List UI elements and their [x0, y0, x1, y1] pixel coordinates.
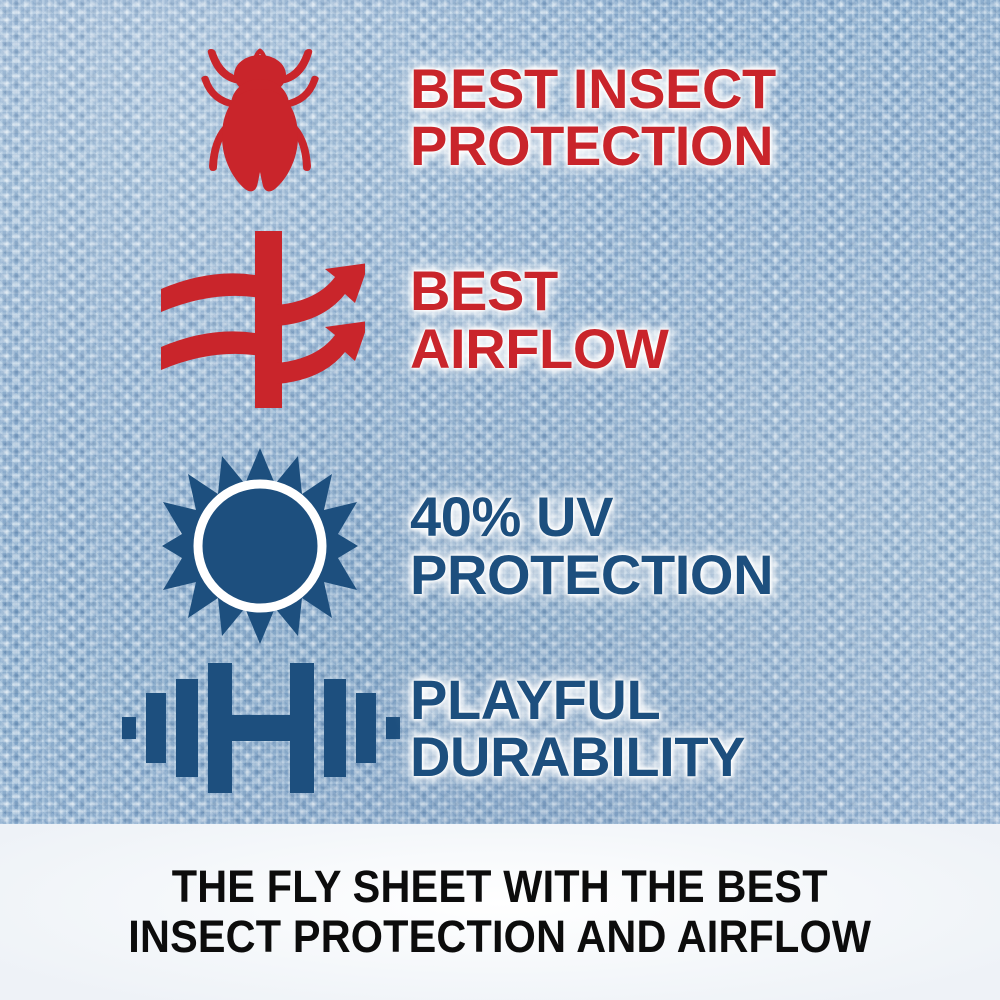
feature-row-uv-protection: 40% UV PROTECTION — [110, 438, 1000, 653]
feature-row-airflow: BEST AIRFLOW — [110, 222, 1000, 417]
feature-icon-cell — [110, 653, 410, 803]
feature-text-cell: 40% UV PROTECTION — [410, 488, 1000, 602]
feature-label-airflow: BEST AIRFLOW — [410, 262, 1000, 376]
sun-icon — [160, 446, 360, 646]
feature-text-cell: BEST INSECT PROTECTION — [410, 60, 1000, 174]
feature-label-insect-protection: BEST INSECT PROTECTION — [410, 60, 1000, 174]
feature-row-insect-protection: BEST INSECT PROTECTION — [110, 22, 1000, 212]
caption-band: THE FLY SHEET WITH THE BEST INSECT PROTE… — [0, 824, 1000, 1000]
feature-list: BEST INSECT PROTECTION — [0, 0, 1000, 824]
feature-text-cell: BEST AIRFLOW — [410, 262, 1000, 376]
caption-headline: THE FLY SHEET WITH THE BEST INSECT PROTE… — [105, 862, 896, 963]
fly-icon — [185, 27, 335, 207]
feature-label-durability: PLAYFUL DURABILITY — [410, 671, 1000, 785]
feature-row-durability: PLAYFUL DURABILITY — [110, 648, 1000, 808]
feature-icon-cell — [110, 446, 410, 646]
dumbbell-icon — [120, 653, 400, 803]
product-feature-poster: BEST INSECT PROTECTION — [0, 0, 1000, 1000]
feature-icon-cell — [110, 227, 410, 412]
feature-icon-cell — [110, 27, 410, 207]
feature-text-cell: PLAYFUL DURABILITY — [410, 671, 1000, 785]
airflow-through-barrier-icon — [155, 227, 365, 412]
feature-label-uv-protection: 40% UV PROTECTION — [410, 488, 1000, 602]
